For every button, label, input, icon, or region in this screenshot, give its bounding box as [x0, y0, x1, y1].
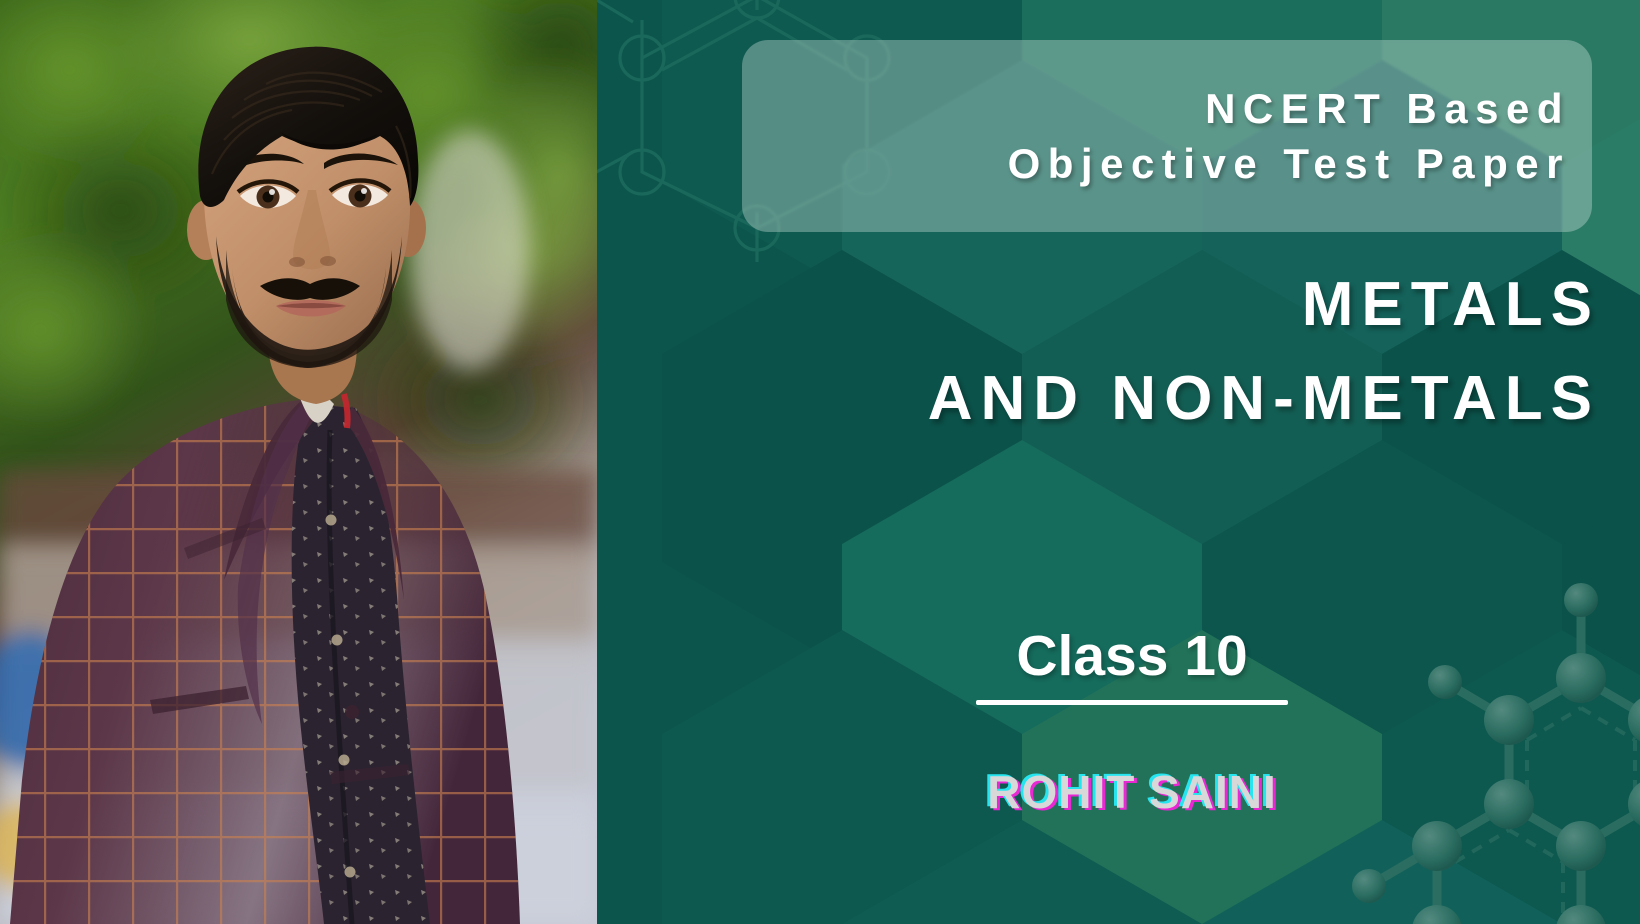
class-badge: Class 10 [972, 625, 1292, 705]
instructor-photo [0, 0, 597, 924]
subtitle-line-2: Objective Test Paper [1008, 140, 1570, 187]
subtitle-banner: NCERT Based Objective Test Paper [742, 40, 1592, 232]
main-title: METALS AND NON-METALS [597, 258, 1600, 446]
instructor-photo-illustration [0, 0, 597, 924]
thumbnail-canvas: NCERT Based Objective Test Paper METALS … [0, 0, 1640, 924]
title-panel: NCERT Based Objective Test Paper METALS … [597, 0, 1640, 924]
presenter-name: ROHIT SAINI [892, 765, 1372, 819]
subtitle-line-1: NCERT Based [1205, 85, 1570, 132]
class-underline [976, 700, 1288, 705]
class-label: Class 10 [972, 625, 1292, 688]
title-line-2: AND NON-METALS [597, 352, 1600, 446]
title-line-1: METALS [597, 258, 1600, 352]
